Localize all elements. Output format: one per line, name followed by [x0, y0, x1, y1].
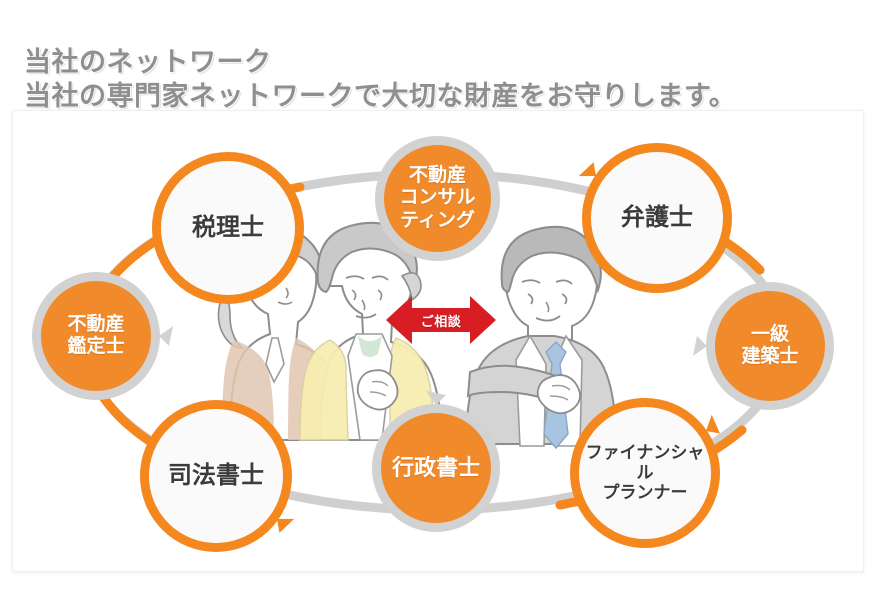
node-label-lawyer: 弁護士: [617, 204, 697, 232]
node-label-realestate-consulting: 不動産コンサルティング: [395, 165, 479, 232]
consultation-arrow: ご相談: [386, 292, 496, 348]
node-first-class-architect[interactable]: 一級建築士: [706, 282, 834, 410]
node-label-tax-accountant: 税理士: [188, 214, 268, 242]
node-realestate-consulting[interactable]: 不動産コンサルティング: [375, 136, 500, 261]
node-label-financial-planner: ファイナンシャルプランナー: [579, 443, 711, 503]
node-judicial-scrivener[interactable]: 司法書士: [140, 400, 292, 552]
node-financial-planner[interactable]: ファイナンシャルプランナー: [570, 398, 720, 548]
node-tax-accountant[interactable]: 税理士: [152, 152, 304, 304]
node-label-judicial-scrivener: 司法書士: [164, 462, 268, 490]
node-realestate-appraiser[interactable]: 不動産鑑定士: [32, 272, 160, 400]
node-administrative-scrivener[interactable]: 行政書士: [372, 404, 500, 532]
consultation-arrow-label: ご相談: [386, 292, 496, 348]
node-label-first-class-architect: 一級建築士: [737, 324, 802, 369]
node-lawyer[interactable]: 弁護士: [582, 143, 732, 293]
node-label-administrative-scrivener: 行政書士: [388, 455, 484, 481]
node-label-realestate-appraiser: 不動産鑑定士: [63, 314, 128, 359]
network-diagram-page: 当社のネットワーク 当社の専門家ネットワークで大切な財産をお守りします。: [0, 0, 876, 595]
